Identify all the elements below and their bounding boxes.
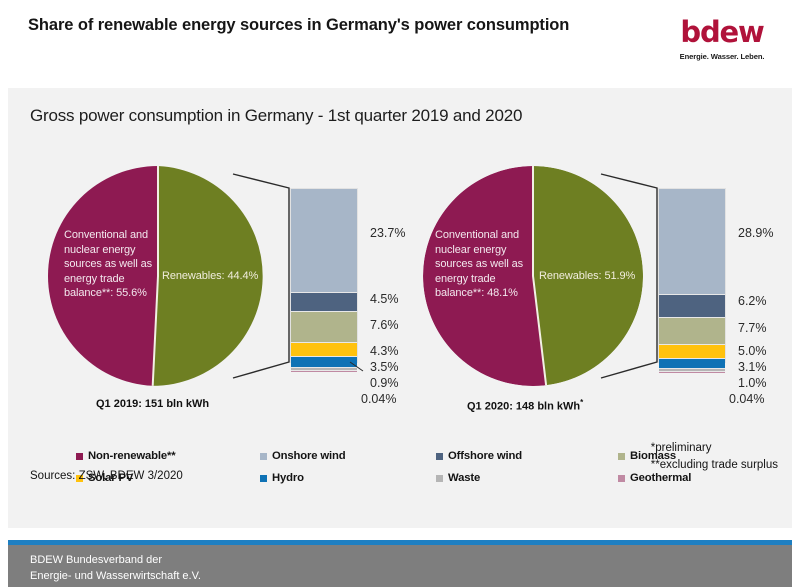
bar-segment-geothermal-2020 — [659, 372, 725, 373]
pct-solar-pv-2020: 5.0% — [738, 344, 767, 358]
footer-line-1: BDEW Bundesverband der — [30, 553, 201, 569]
bar-segment-solar-pv-2020 — [659, 345, 725, 359]
chart-subtitle: Gross power consumption in Germany - 1st… — [30, 106, 522, 126]
pct-onshore-wind-2020: 28.9% — [738, 226, 773, 240]
pct-biomass-2019: 7.6% — [370, 318, 399, 332]
legend-item-hydro[interactable]: Hydro — [260, 472, 304, 484]
pie-caption-footnote-2020: * — [580, 398, 583, 407]
pct-offshore-wind-2019: 4.5% — [370, 292, 399, 306]
pie-chart-2019: Conventional and nuclear energy sources … — [48, 166, 268, 386]
pct-hydro-2019: 3.5% — [370, 360, 399, 374]
legend-swatch-non-renewable-icon — [76, 453, 83, 460]
pie-label-renewables-2020: Renewables: 51.9% — [539, 270, 635, 282]
legend-swatch-biomass-icon — [618, 453, 625, 460]
pct-solar-pv-2019: 4.3% — [370, 344, 399, 358]
slide-canvas: Share of renewable energy sources in Ger… — [0, 0, 800, 587]
bar-segment-onshore-wind-2020 — [659, 189, 725, 295]
pie-caption-text-2020: Q1 2020: 148 bln kWh — [467, 401, 580, 413]
legend-label-onshore-wind: Onshore wind — [272, 450, 346, 462]
legend-label-waste: Waste — [448, 472, 480, 484]
bar-segment-offshore-wind-2020 — [659, 295, 725, 318]
pie-label-non-renewable-2020: Conventional and nuclear energy sources … — [435, 228, 535, 301]
footer-bar: BDEW Bundesverband der Energie- und Wass… — [8, 545, 792, 587]
pct-hydro-2020: 3.1% — [738, 360, 767, 374]
footnotes: *preliminary **excluding trade surplus — [651, 440, 778, 473]
footnote-excluding-trade-surplus: **excluding trade surplus — [651, 457, 778, 474]
pie-caption-2019: Q1 2019: 151 bln kWh — [96, 398, 209, 410]
footer-organization: BDEW Bundesverband der Energie- und Wass… — [30, 553, 201, 584]
legend-item-geothermal[interactable]: Geothermal — [618, 472, 691, 484]
pct-offshore-wind-2020: 6.2% — [738, 294, 767, 308]
logo-tagline: Energie. Wasser. Leben. — [662, 52, 782, 61]
legend-swatch-offshore-wind-icon — [436, 453, 443, 460]
bar-segment-biomass-2020 — [659, 318, 725, 345]
stacked-bar-2019 — [290, 188, 358, 363]
logo-wordmark: bdew — [662, 18, 782, 47]
bar-segment-hydro-2020 — [659, 359, 725, 369]
bar-segment-hydro-2019 — [291, 357, 357, 368]
chart-group-q1-2019: Conventional and nuclear energy sources … — [48, 166, 428, 416]
legend-swatch-geothermal-icon — [618, 475, 625, 482]
legend-label-non-renewable: Non-renewable** — [88, 450, 176, 462]
bar-segment-onshore-wind-2019 — [291, 189, 357, 293]
bar-segment-geothermal-2019 — [291, 371, 357, 372]
pie-label-renewables-2019: Renewables: 44.4% — [162, 270, 258, 282]
pie-label-non-renewable-2019: Conventional and nuclear energy sources … — [64, 228, 156, 301]
pct-onshore-wind-2019: 23.7% — [370, 226, 405, 240]
pct-geothermal-2020: 0.04% — [729, 392, 764, 406]
legend-swatch-onshore-wind-icon — [260, 453, 267, 460]
chart-group-q1-2020: Conventional and nuclear energy sources … — [423, 166, 800, 416]
sources-text: Sources: ZSW, BDEW 3/2020 — [30, 470, 183, 482]
header: Share of renewable energy sources in Ger… — [0, 0, 800, 82]
bar-segment-offshore-wind-2019 — [291, 293, 357, 312]
pct-waste-2020: 1.0% — [738, 376, 767, 390]
legend-swatch-waste-icon — [436, 475, 443, 482]
pct-geothermal-2019: 0.04% — [361, 392, 396, 406]
pie-caption-2020: Q1 2020: 148 bln kWh* — [467, 398, 583, 413]
legend-item-non-renewable[interactable]: Non-renewable** — [76, 450, 176, 462]
chart-panel: Gross power consumption in Germany - 1st… — [8, 88, 792, 528]
legend-label-geothermal: Geothermal — [630, 472, 691, 484]
legend-label-offshore-wind: Offshore wind — [448, 450, 522, 462]
legend-item-onshore-wind[interactable]: Onshore wind — [260, 450, 346, 462]
pct-waste-2019: 0.9% — [370, 376, 399, 390]
bar-segment-solar-pv-2019 — [291, 343, 357, 357]
legend-swatch-hydro-icon — [260, 475, 267, 482]
legend-item-waste[interactable]: Waste — [436, 472, 480, 484]
footer-line-2: Energie- und Wasserwirtschaft e.V. — [30, 569, 201, 585]
pie-caption-text-2019: Q1 2019: 151 bln kWh — [96, 398, 209, 410]
footnote-preliminary: *preliminary — [651, 440, 778, 457]
pct-biomass-2020: 7.7% — [738, 321, 767, 335]
legend-item-offshore-wind[interactable]: Offshore wind — [436, 450, 522, 462]
bdew-logo: bdew Energie. Wasser. Leben. — [662, 18, 782, 61]
legend-label-hydro: Hydro — [272, 472, 304, 484]
stacked-bar-2020 — [658, 188, 726, 363]
bar-segment-biomass-2019 — [291, 312, 357, 343]
page-title: Share of renewable energy sources in Ger… — [28, 14, 608, 37]
pie-chart-2020: Conventional and nuclear energy sources … — [423, 166, 643, 386]
